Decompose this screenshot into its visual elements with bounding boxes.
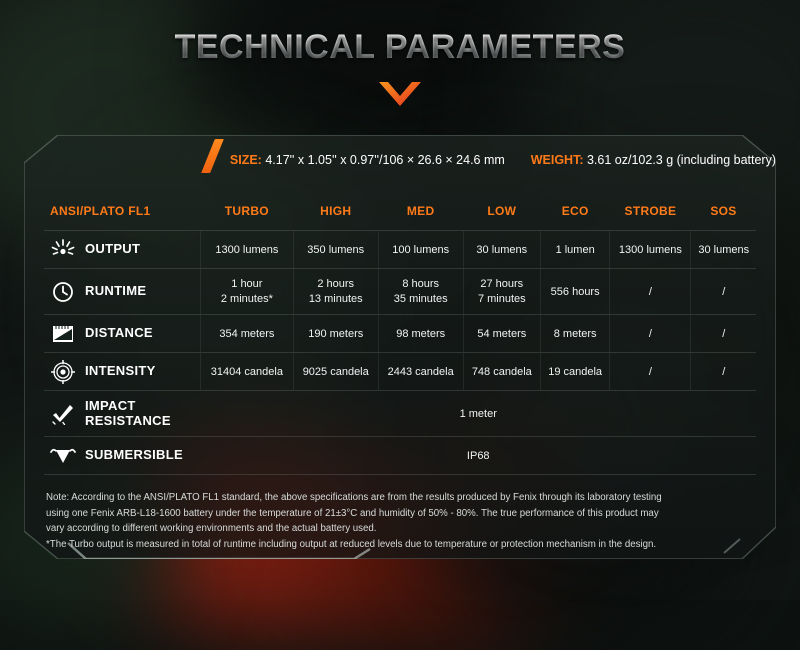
cell-output-low: 30 lumens [463,231,540,269]
column-header-eco: ECO [540,192,609,231]
cell-output-med: 100 lumens [378,231,463,269]
clock-icon [50,279,76,305]
row-label-distance: DISTANCE [44,315,201,353]
column-header-strobe: STROBE [610,192,691,231]
column-header-ansi: ANSI/PLATO FL1 [44,192,201,231]
footnote-line-3: vary according to different working envi… [46,521,758,537]
cell-output-high: 350 lumens [293,231,378,269]
cell-submersible-value: IP68 [201,437,757,475]
row-label-text: SUBMERSIBLE [85,448,183,463]
footnote-line-4: *The Turbo output is measured in total o… [46,537,758,553]
cell-runtime-med: 8 hours35 minutes [378,269,463,315]
table-row: INTENSITY 31404 candela 9025 candela 244… [44,353,756,391]
size-spec: SIZE: 4.17'' x 1.05'' x 0.97''/106 × 26.… [230,153,505,167]
table-row: OUTPUT 1300 lumens 350 lumens 100 lumens… [44,231,756,269]
table-row: DISTANCE 354 meters 190 meters 98 meters… [44,315,756,353]
target-intensity-icon [50,359,76,385]
light-burst-icon [50,237,76,263]
cell-runtime-sos: / [691,269,756,315]
cell-intensity-strobe: / [610,353,691,391]
cell-output-sos: 30 lumens [691,231,756,269]
chevron-down-icon [0,82,800,113]
technical-parameters-table: ANSI/PLATO FL1 TURBO HIGH MED LOW ECO ST… [44,192,756,475]
cell-intensity-low: 748 candela [463,353,540,391]
cell-runtime-low: 27 hours7 minutes [463,269,540,315]
cell-distance-low: 54 meters [463,315,540,353]
row-label-runtime: RUNTIME [44,269,201,315]
cell-intensity-sos: / [691,353,756,391]
cell-distance-high: 190 meters [293,315,378,353]
table-header-row: ANSI/PLATO FL1 TURBO HIGH MED LOW ECO ST… [44,192,756,231]
page-title-text: TECHNICAL PARAMETERS [175,28,626,67]
cell-output-strobe: 1300 lumens [610,231,691,269]
cell-distance-eco: 8 meters [540,315,609,353]
orange-slash-accent [200,145,230,175]
row-label-output: OUTPUT [44,231,201,269]
cell-runtime-turbo: 1 hour2 minutes* [201,269,294,315]
table-row: IMPACTRESISTANCE 1 meter [44,391,756,437]
cell-intensity-turbo: 31404 candela [201,353,294,391]
row-label-intensity: INTENSITY [44,353,201,391]
cell-runtime-eco: 556 hours [540,269,609,315]
cell-intensity-eco: 19 candela [540,353,609,391]
beam-distance-icon [50,321,76,347]
page-title: TECHNICAL PARAMETERS [0,28,800,67]
footnote-line-2: using one Fenix ARB-L18-1600 battery und… [46,506,758,522]
row-label-text: IMPACTRESISTANCE [85,399,171,429]
cell-intensity-high: 9025 candela [293,353,378,391]
water-drop-icon [50,443,76,469]
table-row: RUNTIME 1 hour2 minutes* 2 hours13 minut… [44,269,756,315]
cell-impact-resistance-value: 1 meter [201,391,757,437]
column-header-sos: SOS [691,192,756,231]
cell-distance-strobe: / [610,315,691,353]
size-value: 4.17'' x 1.05'' x 0.97''/106 × 26.6 × 24… [265,153,504,167]
footnote-line-1: Note: According to the ANSI/PLATO FL1 st… [46,490,758,506]
impact-check-icon [50,401,76,427]
row-label-text: INTENSITY [85,364,156,379]
row-label-text: RUNTIME [85,284,146,299]
row-label-text: OUTPUT [85,242,140,257]
footnote: Note: According to the ANSI/PLATO FL1 st… [46,490,758,553]
row-label-text: DISTANCE [85,326,153,341]
size-label: SIZE: [230,153,262,167]
column-header-med: MED [378,192,463,231]
table-row: SUBMERSIBLE IP68 [44,437,756,475]
cell-output-eco: 1 lumen [540,231,609,269]
cell-distance-med: 98 meters [378,315,463,353]
cell-intensity-med: 2443 candela [378,353,463,391]
column-header-high: HIGH [293,192,378,231]
cell-output-turbo: 1300 lumens [201,231,294,269]
column-header-turbo: TURBO [201,192,294,231]
cell-runtime-high: 2 hours13 minutes [293,269,378,315]
cell-runtime-strobe: / [610,269,691,315]
row-label-submersible: SUBMERSIBLE [44,437,201,475]
weight-value: 3.61 oz/102.3 g (including battery) [587,153,776,167]
column-header-low: LOW [463,192,540,231]
size-weight-bar: SIZE: 4.17'' x 1.05'' x 0.97''/106 × 26.… [24,143,776,177]
cell-distance-sos: / [691,315,756,353]
weight-spec: WEIGHT: 3.61 oz/102.3 g (including batte… [531,153,776,167]
weight-label: WEIGHT: [531,153,584,167]
row-label-impact-resistance: IMPACTRESISTANCE [44,391,201,437]
cell-distance-turbo: 354 meters [201,315,294,353]
